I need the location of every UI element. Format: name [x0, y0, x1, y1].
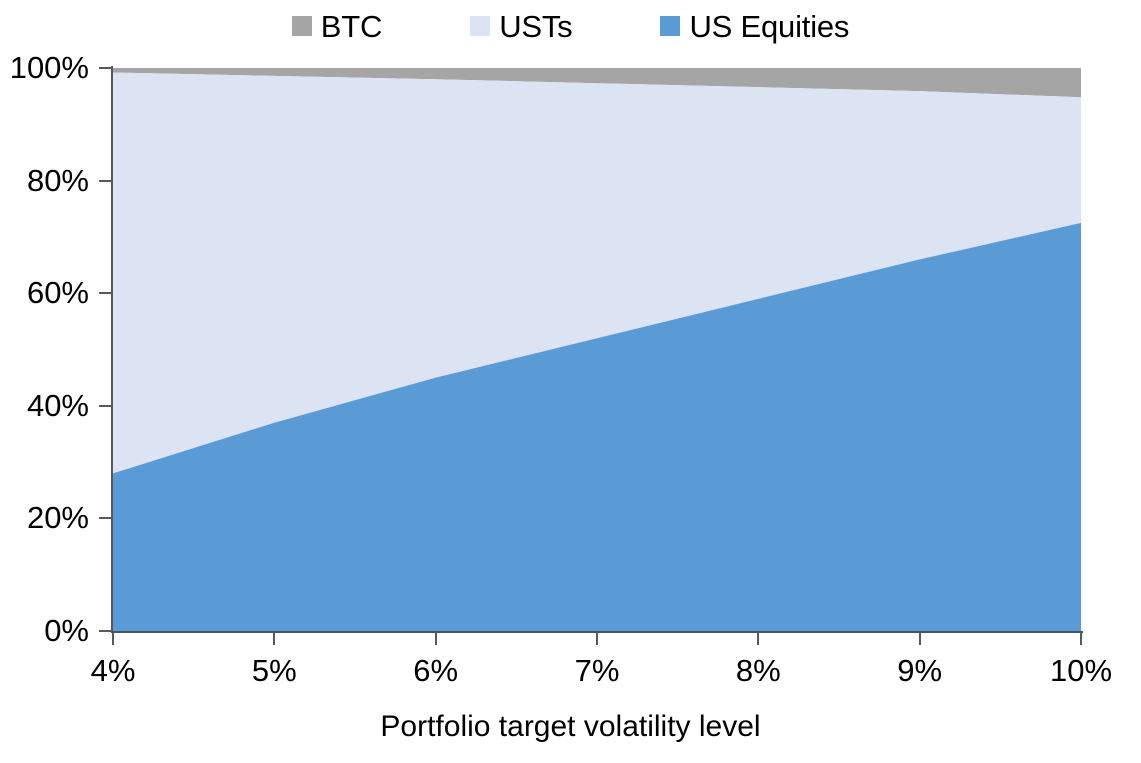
- legend-label-us-equities: US Equities: [689, 11, 849, 42]
- legend-item-us-equities[interactable]: US Equities: [660, 11, 849, 42]
- x-tick-mark: [112, 633, 114, 645]
- x-tick-mark: [273, 633, 275, 645]
- x-tick-label: 9%: [897, 655, 942, 686]
- x-tick-mark: [596, 633, 598, 645]
- plot-area: [113, 68, 1081, 631]
- x-tick-mark: [1080, 633, 1082, 645]
- y-tick-mark: [99, 630, 112, 632]
- x-tick-label: 8%: [736, 655, 781, 686]
- x-tick-mark: [919, 633, 921, 645]
- y-tick-mark: [99, 517, 112, 519]
- legend-item-btc[interactable]: BTC: [292, 11, 382, 42]
- area-series-svg: [113, 68, 1081, 631]
- y-tick-mark: [99, 67, 112, 69]
- square-swatch-icon: [470, 16, 490, 36]
- legend-label-usts: USTs: [499, 11, 572, 42]
- y-tick-label: 100%: [10, 52, 89, 83]
- x-axis-title: Portfolio target volatility level: [0, 710, 1141, 744]
- x-tick-mark: [757, 633, 759, 645]
- x-tick-label: 5%: [252, 655, 297, 686]
- square-swatch-icon: [660, 16, 680, 36]
- x-tick-label: 4%: [91, 655, 136, 686]
- y-axis-line: [111, 66, 113, 633]
- y-tick-mark: [99, 405, 112, 407]
- y-tick-mark: [99, 292, 112, 294]
- y-tick-mark: [99, 180, 112, 182]
- stacked-area-chart: BTC USTs US Equities 0%20%40%60%80%100% …: [0, 0, 1141, 763]
- y-tick-label: 80%: [27, 165, 89, 196]
- legend-label-btc: BTC: [321, 11, 382, 42]
- x-tick-label: 10%: [1050, 655, 1112, 686]
- y-tick-label: 20%: [27, 502, 89, 533]
- legend-item-usts[interactable]: USTs: [470, 11, 572, 42]
- x-tick-label: 6%: [413, 655, 458, 686]
- y-tick-label: 40%: [27, 390, 89, 421]
- y-tick-label: 60%: [27, 277, 89, 308]
- y-tick-label: 0%: [44, 615, 89, 646]
- square-swatch-icon: [292, 16, 312, 36]
- chart-legend: BTC USTs US Equities: [0, 6, 1141, 46]
- x-tick-label: 7%: [575, 655, 620, 686]
- x-tick-mark: [435, 633, 437, 645]
